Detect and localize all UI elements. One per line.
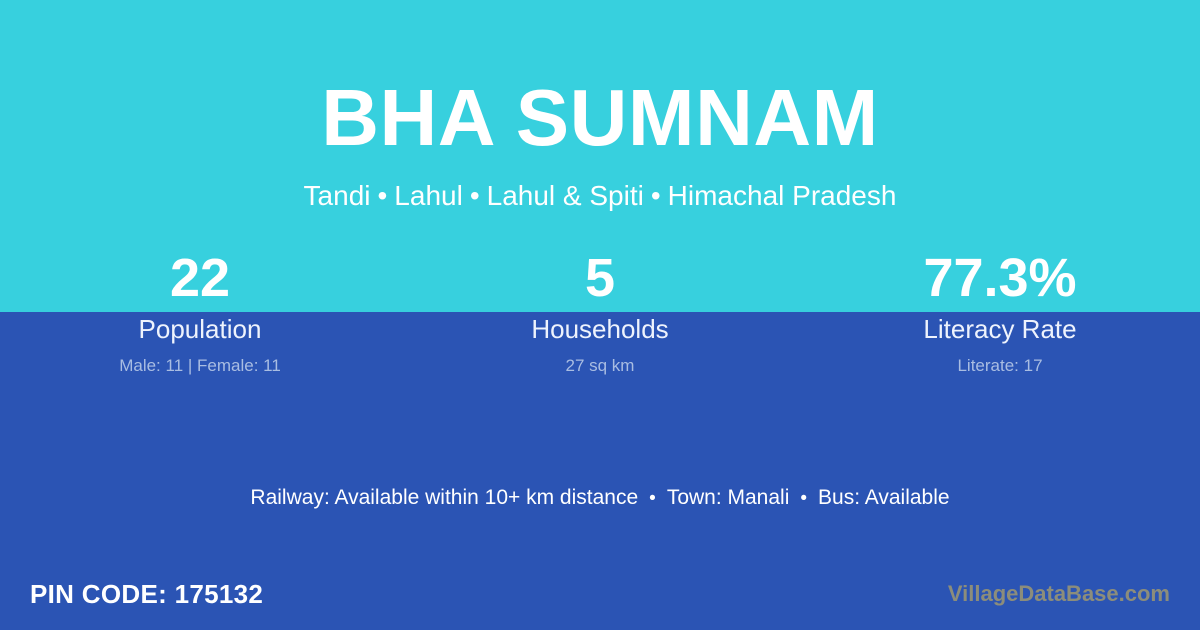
stats-row: 22 Population Male: 11 | Female: 11 5 Ho… bbox=[0, 248, 1200, 374]
breadcrumb: Tandi•Lahul•Lahul & Spiti•Himachal Prade… bbox=[304, 182, 897, 210]
amenity-separator-icon: • bbox=[638, 488, 667, 509]
breadcrumb-item-lahul: Lahul bbox=[394, 180, 463, 211]
stat-sublabel: Male: 11 | Female: 11 bbox=[119, 357, 281, 374]
breadcrumb-separator-icon: • bbox=[370, 180, 394, 211]
pin-code: PIN CODE: 175132 bbox=[30, 581, 263, 607]
breadcrumb-item-tandi: Tandi bbox=[304, 180, 371, 211]
breadcrumb-separator-icon: • bbox=[463, 180, 487, 211]
amenity-separator-icon: • bbox=[789, 488, 818, 509]
breadcrumb-item-himachal-pradesh: Himachal Pradesh bbox=[668, 180, 897, 211]
village-info-card: BHA SUMNAM Tandi•Lahul•Lahul & Spiti•Him… bbox=[0, 0, 1200, 630]
stat-sublabel: Literate: 17 bbox=[957, 357, 1042, 374]
stat-label: Literacy Rate bbox=[923, 316, 1076, 342]
card-header: BHA SUMNAM Tandi•Lahul•Lahul & Spiti•Him… bbox=[0, 0, 1200, 232]
stat-label: Households bbox=[531, 316, 668, 342]
stat-population: 22 Population Male: 11 | Female: 11 bbox=[0, 248, 400, 374]
stat-value: 77.3% bbox=[923, 248, 1076, 310]
site-brand: VillageDataBase.com bbox=[948, 583, 1170, 605]
page-title: BHA SUMNAM bbox=[321, 78, 879, 158]
breadcrumb-separator-icon: • bbox=[644, 180, 668, 211]
amenity-town: Town: Manali bbox=[667, 486, 790, 509]
stat-households: 5 Households 27 sq km bbox=[400, 248, 800, 374]
stat-literacy-rate: 77.3% Literacy Rate Literate: 17 bbox=[800, 248, 1200, 374]
stat-label: Population bbox=[139, 316, 262, 342]
stat-sublabel: 27 sq km bbox=[566, 357, 635, 374]
stat-value: 22 bbox=[170, 248, 230, 310]
amenity-bus: Bus: Available bbox=[818, 486, 950, 509]
card-footer: PIN CODE: 175132 VillageDataBase.com bbox=[0, 558, 1200, 630]
amenities-line: Railway: Available within 10+ km distanc… bbox=[0, 487, 1200, 508]
stat-value: 5 bbox=[585, 248, 615, 310]
amenity-railway: Railway: Available within 10+ km distanc… bbox=[250, 486, 638, 509]
breadcrumb-item-lahul-spiti: Lahul & Spiti bbox=[487, 180, 644, 211]
